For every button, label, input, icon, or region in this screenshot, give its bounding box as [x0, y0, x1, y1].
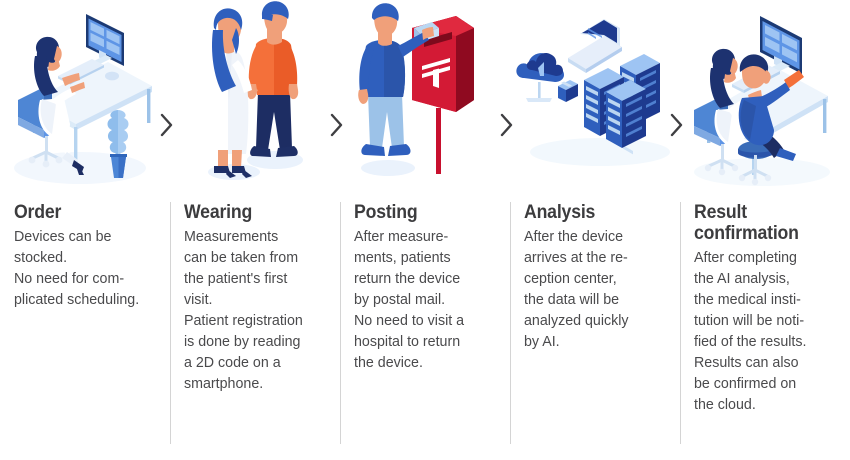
step-wearing: Wearing Measurements can be taken from t… [170, 0, 340, 460]
cloud-laptop-servers-illustration [510, 0, 680, 200]
doctor-and-patient-at-monitor-illustration [680, 0, 850, 200]
step-heading-analysis: Analysis [524, 202, 660, 223]
step-body-wearing: Measurements can be taken from the patie… [184, 226, 323, 394]
step-analysis: Analysis After the device arrives at the… [510, 0, 680, 460]
step-body-analysis: After the device arrives at the re- cept… [524, 226, 663, 352]
woman-at-desk-with-monitor-illustration [0, 0, 170, 200]
step-heading-result-confirmation: Result confirmation [694, 202, 835, 244]
step-body-order: Devices can be stocked. No need for com-… [14, 226, 153, 310]
process-flow-diagram: Order Devices can be stocked. No need fo… [0, 0, 850, 460]
step-body-posting: After measure- ments, patients return th… [354, 226, 493, 373]
step-result-confirmation: Result confirmation After completing the… [680, 0, 850, 460]
man-posting-letter-in-mailbox-illustration [340, 0, 510, 200]
step-heading-order: Order [14, 202, 150, 223]
step-text-result-confirmation: Result confirmation After completing the… [694, 202, 846, 415]
step-order: Order Devices can be stocked. No need fo… [0, 0, 170, 460]
step-posting: Posting After measure- ments, patients r… [340, 0, 510, 460]
nurse-and-patient-illustration [170, 0, 340, 200]
step-heading-wearing: Wearing [184, 202, 320, 223]
step-text-posting: Posting After measure- ments, patients r… [354, 202, 500, 373]
step-heading-posting: Posting [354, 202, 490, 223]
step-text-wearing: Wearing Measurements can be taken from t… [184, 202, 330, 394]
step-text-order: Order Devices can be stocked. No need fo… [14, 202, 160, 310]
step-text-analysis: Analysis After the device arrives at the… [524, 202, 670, 352]
step-body-result-confirmation: After completing the AI analysis, the me… [694, 247, 838, 415]
